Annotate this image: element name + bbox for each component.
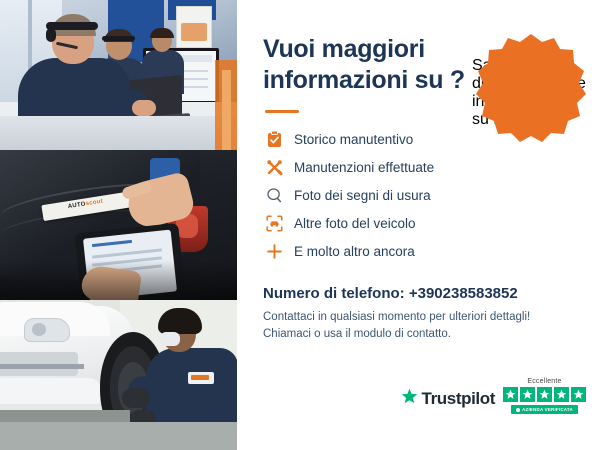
contact-subtext-line-1: Contattaci in qualsiasi momento per ulte…: [263, 309, 580, 326]
photo-column: AUTOscout: [0, 0, 237, 450]
contact-subtext-line-2: Chiamaci o usa il modulo di contatto.: [263, 326, 580, 343]
list-item-label: Altre foto del veicolo: [294, 216, 416, 231]
poster-shape: [176, 6, 212, 48]
rating-star-icon: [571, 387, 586, 402]
rating-star-icon: [537, 387, 552, 402]
info-panel: Vuoi maggiori informazioni su ? Storico …: [237, 0, 600, 450]
rating-star-icon: [554, 387, 569, 402]
call-center-agents-photo: [0, 0, 237, 150]
mechanic-mask-shape: [160, 332, 180, 346]
trustpilot-name: Trustpilot: [422, 389, 495, 409]
rating-star-icon: [520, 387, 535, 402]
chrome-trim-shape: [0, 364, 84, 369]
list-item-label: Manutenzioni effettuate: [294, 160, 434, 175]
trustpilot-rating: Eccellente AZIENDA VERIFICATA: [503, 378, 586, 414]
clipboard-check-icon: [263, 129, 285, 149]
desk-front-shape: [0, 116, 237, 150]
rating-word: Eccellente: [527, 378, 561, 385]
car-inspection-tablet-photo: AUTOscout: [0, 150, 237, 300]
list-item[interactable]: E molto altro ancora: [263, 239, 580, 263]
agent-one-earcup-shape: [46, 28, 56, 42]
agent-two-headset-shape: [102, 36, 135, 41]
plus-icon: [263, 241, 285, 261]
page-title: Vuoi maggiori informazioni su ?: [263, 34, 478, 96]
promo-ad: AUTOscout: [0, 0, 600, 450]
rating-star-icon: [503, 387, 518, 402]
title-divider: [265, 110, 299, 113]
contact-subtext: Contattaci in qualsiasi momento per ulte…: [263, 309, 580, 344]
agent-three-hair-shape: [150, 28, 174, 38]
verified-check-icon: [516, 408, 520, 412]
starburst-shape: [472, 32, 590, 150]
photo-shadow-overlay: [0, 260, 237, 300]
callout-badge: Saremo felici di fornirti queste informa…: [472, 32, 590, 150]
agent-one-hand-shape: [132, 100, 156, 116]
list-item-label: E molto altro ancora: [294, 244, 415, 259]
mechanic-hair-shape: [158, 308, 202, 334]
trustpilot-widget[interactable]: Trustpilot Eccellente AZIENDA VERIFICATA: [401, 378, 586, 414]
bumper-shape: [0, 378, 102, 404]
list-item-label: Foto dei segni di usura: [294, 188, 431, 203]
mechanic-wheel-photo: [0, 300, 237, 450]
tools-cross-icon: [263, 157, 285, 177]
list-item[interactable]: Foto dei segni di usura: [263, 183, 580, 207]
headlight-shape: [24, 318, 70, 342]
orange-ladder-rail-shape: [222, 70, 231, 150]
phone-number[interactable]: +390238583852: [409, 285, 518, 302]
trustpilot-logo: Trustpilot: [401, 388, 495, 414]
status-badge: AZIENDA VERIFICATA: [511, 405, 578, 414]
list-item[interactable]: Manutenzioni effettuate: [263, 155, 580, 179]
headlight-lens-shape: [32, 323, 46, 336]
uniform-badge-shape: [188, 372, 214, 384]
magnifier-icon: [263, 185, 285, 205]
list-item[interactable]: Altre foto del veicolo: [263, 211, 580, 235]
scan-car-icon: [263, 213, 285, 233]
trustpilot-star-icon: [401, 388, 418, 410]
mechanic-glove-shape: [122, 388, 150, 408]
phone-label: Numero di telefono:: [263, 285, 405, 302]
star-rating: [503, 387, 586, 402]
list-item-label: Storico manutentivo: [294, 132, 413, 147]
garage-floor-shape: [0, 422, 237, 450]
verified-label: AZIENDA VERIFICATA: [522, 407, 573, 412]
phone-line[interactable]: Numero di telefono: +390238583852: [263, 285, 580, 302]
